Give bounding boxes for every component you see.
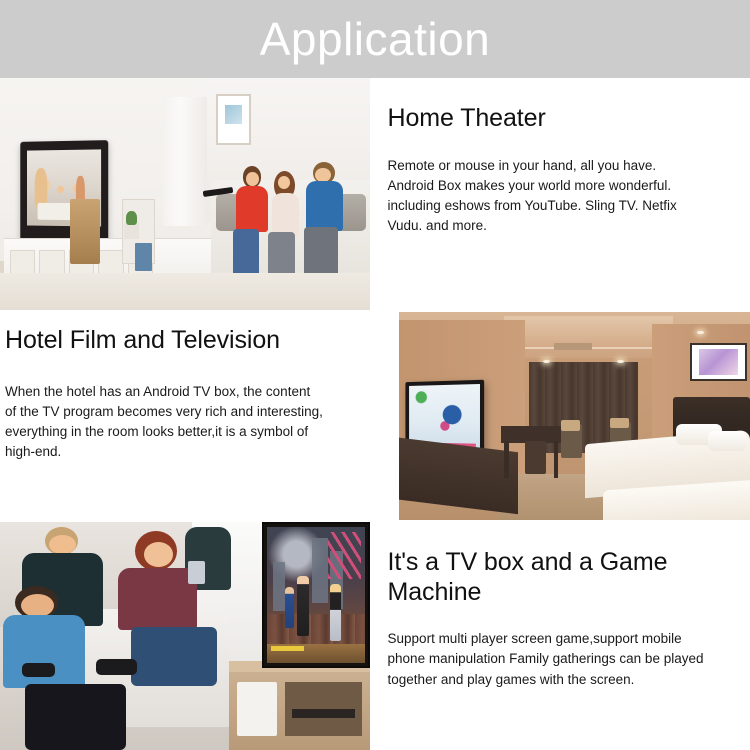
gaming-body: Support multi player screen game,support… [388, 629, 736, 690]
desk-leg [504, 441, 509, 478]
blue-storage-box [135, 243, 152, 271]
potted-plant [124, 223, 139, 239]
hotel-room-scene [399, 312, 750, 520]
living-room-scene [0, 78, 370, 310]
application-page: Application [0, 0, 750, 750]
section-hotel-film-and-television: Hotel Film and Television When the hotel… [0, 312, 750, 520]
game-controller [96, 659, 137, 675]
game-character [297, 576, 310, 636]
wicker-basket [70, 199, 100, 264]
armchair-back [561, 420, 580, 430]
page-title: Application [260, 16, 491, 62]
gaming-scene [0, 522, 370, 750]
torso [118, 568, 198, 630]
tv-screen-game [267, 527, 364, 663]
game-character [330, 584, 342, 641]
desk-leg [554, 441, 559, 478]
game-character [285, 587, 294, 628]
hotel-room-image [399, 312, 750, 520]
game-building [273, 562, 285, 611]
tv-stand-door [237, 682, 278, 737]
desk-chair [525, 441, 546, 474]
television [262, 522, 369, 668]
tv-console [399, 438, 518, 515]
ceiling-light [617, 360, 624, 363]
hotel-title: Hotel Film and Television [5, 326, 377, 356]
face [21, 594, 54, 617]
armchair-back [610, 418, 629, 428]
game-crane-structure [328, 532, 361, 578]
game-controller [22, 663, 55, 677]
curtain [163, 97, 207, 227]
hotel-body: When the hotel has an Android TV box, th… [5, 382, 377, 463]
gaming-text: It's a TV box and a Game Machine Support… [370, 522, 750, 750]
face [144, 542, 173, 567]
hotel-text: Hotel Film and Television When the hotel… [0, 312, 399, 520]
media-device [292, 709, 355, 718]
face [49, 535, 76, 554]
home-theater-title: Home Theater [388, 104, 736, 134]
section-tv-box-and-game-machine: It's a TV box and a Game Machine Support… [0, 522, 750, 750]
air-vent [554, 343, 593, 350]
wall-picture-frame [216, 94, 251, 145]
living-room-image [0, 78, 370, 310]
game-building [312, 538, 328, 603]
section-home-theater: Home Theater Remote or mouse in your han… [0, 78, 750, 310]
gaming-image [0, 522, 370, 750]
mobile-phone [188, 561, 205, 584]
game-crowd [267, 614, 364, 644]
home-theater-text: Home Theater Remote or mouse in your han… [370, 78, 750, 310]
pillow [708, 431, 747, 452]
game-health-bar [271, 646, 304, 651]
torso [272, 193, 299, 237]
gaming-title: It's a TV box and a Game Machine [388, 548, 736, 607]
home-theater-body: Remote or mouse in your hand, all you ha… [388, 156, 736, 237]
rug [0, 273, 370, 310]
torso [306, 181, 343, 231]
torso [236, 186, 268, 232]
wall-artwork [690, 343, 746, 380]
legs [131, 627, 217, 686]
page-header: Application [0, 0, 750, 78]
legs [25, 684, 126, 750]
